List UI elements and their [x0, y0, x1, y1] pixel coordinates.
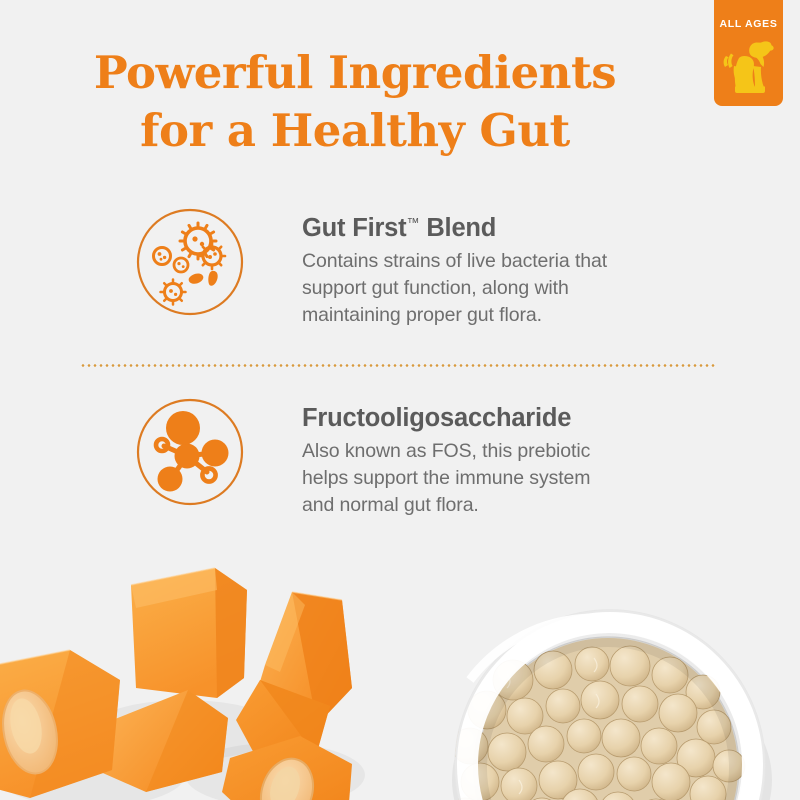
page-title-line-1: Powerful Ingredients	[40, 44, 670, 102]
all-ages-badge-label: ALL AGES	[714, 18, 783, 30]
feature-row-gut-first-blend: Gut First™ Blend Contains strains of liv…	[0, 208, 800, 329]
feature-title-gut-first-blend: Gut First™ Blend	[302, 208, 702, 243]
feature-body-line-3: and normal gut flora.	[302, 492, 702, 519]
page-title: Powerful Ingredients for a Healthy Gut	[40, 44, 670, 160]
all-ages-badge: ALL AGES	[714, 0, 783, 106]
trademark-symbol: ™	[406, 215, 419, 230]
sitting-dog-silhouette-icon	[722, 36, 776, 94]
feature-body-line-2: support gut function, along with	[302, 275, 702, 302]
feature-text-gut-first-blend: Gut First™ Blend Contains strains of liv…	[302, 208, 702, 329]
feature-title-fructooligosaccharide: Fructooligosaccharide	[302, 398, 702, 433]
page-title-line-2: for a Healthy Gut	[40, 102, 670, 160]
feature-body-line-2: helps support the immune system	[302, 465, 702, 492]
molecule-icon	[136, 398, 244, 506]
product-ingredient-photos	[0, 520, 800, 800]
feature-title-main: Gut First	[302, 214, 406, 242]
feature-row-fructooligosaccharide: Fructooligosaccharide Also known as FOS,…	[0, 398, 800, 519]
feature-body-line-3: maintaining proper gut flora.	[302, 302, 702, 329]
infographic-page: ALL AGES	[0, 0, 800, 800]
feature-body-fructooligosaccharide: Also known as FOS, this prebiotic helps …	[302, 438, 702, 519]
dotted-divider	[80, 364, 716, 367]
feature-title-rest: Blend	[419, 214, 496, 242]
feature-body-line-1: Contains strains of live bacteria that	[302, 248, 702, 275]
feature-body-gut-first-blend: Contains strains of live bacteria that s…	[302, 248, 702, 329]
bacteria-petri-dish-icon	[136, 208, 244, 316]
feature-body-line-1: Also known as FOS, this prebiotic	[302, 438, 702, 465]
feature-title-main: Fructooligosaccharide	[302, 404, 571, 432]
feature-text-fructooligosaccharide: Fructooligosaccharide Also known as FOS,…	[302, 398, 702, 519]
